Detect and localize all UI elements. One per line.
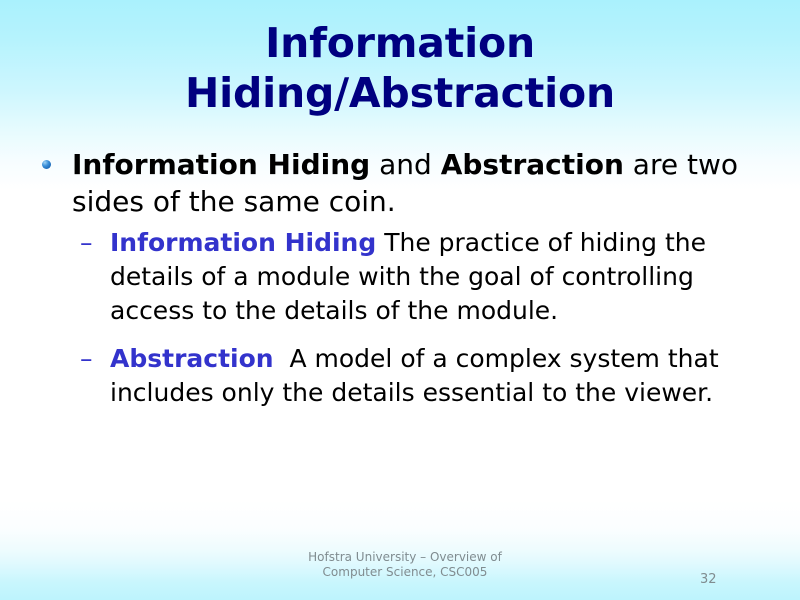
slide-canvas: Information Hiding/Abstraction Informati… [0,0,800,600]
footer-attribution: Hofstra University – Overview of Compute… [205,550,605,580]
dash-marker-icon: – [80,342,110,376]
bullet1-bold-term-1: Information Hiding [72,148,370,181]
dash-marker-icon: – [80,226,110,260]
page-number: 32 [700,572,760,587]
title-line-1: Information [0,18,800,68]
bullet-level2-abstraction: –Abstraction A model of a complex system… [0,342,800,410]
title-line-2: Hiding/Abstraction [0,68,800,118]
footer-line-1: Hofstra University – Overview of [205,550,605,565]
footer-line-2: Computer Science, CSC005 [205,565,605,580]
bullet-level1: Information Hiding and Abstraction are t… [0,146,800,220]
slide-title: Information Hiding/Abstraction [0,18,800,118]
bullet1-plain-1: and [370,148,440,181]
bullet-level1-text: Information Hiding and Abstraction are t… [72,148,738,218]
slide-footer: Hofstra University – Overview of Compute… [0,550,800,600]
subbullet-term-information-hiding: Information Hiding [110,228,376,257]
slide-body: Information Hiding and Abstraction are t… [0,146,800,526]
bullet1-bold-term-2: Abstraction [441,148,624,181]
bullet-level2-information-hiding: –Information Hiding The practice of hidi… [0,226,800,328]
bullet-sphere-icon [42,160,51,169]
subbullet-term-abstraction: Abstraction [110,344,274,373]
